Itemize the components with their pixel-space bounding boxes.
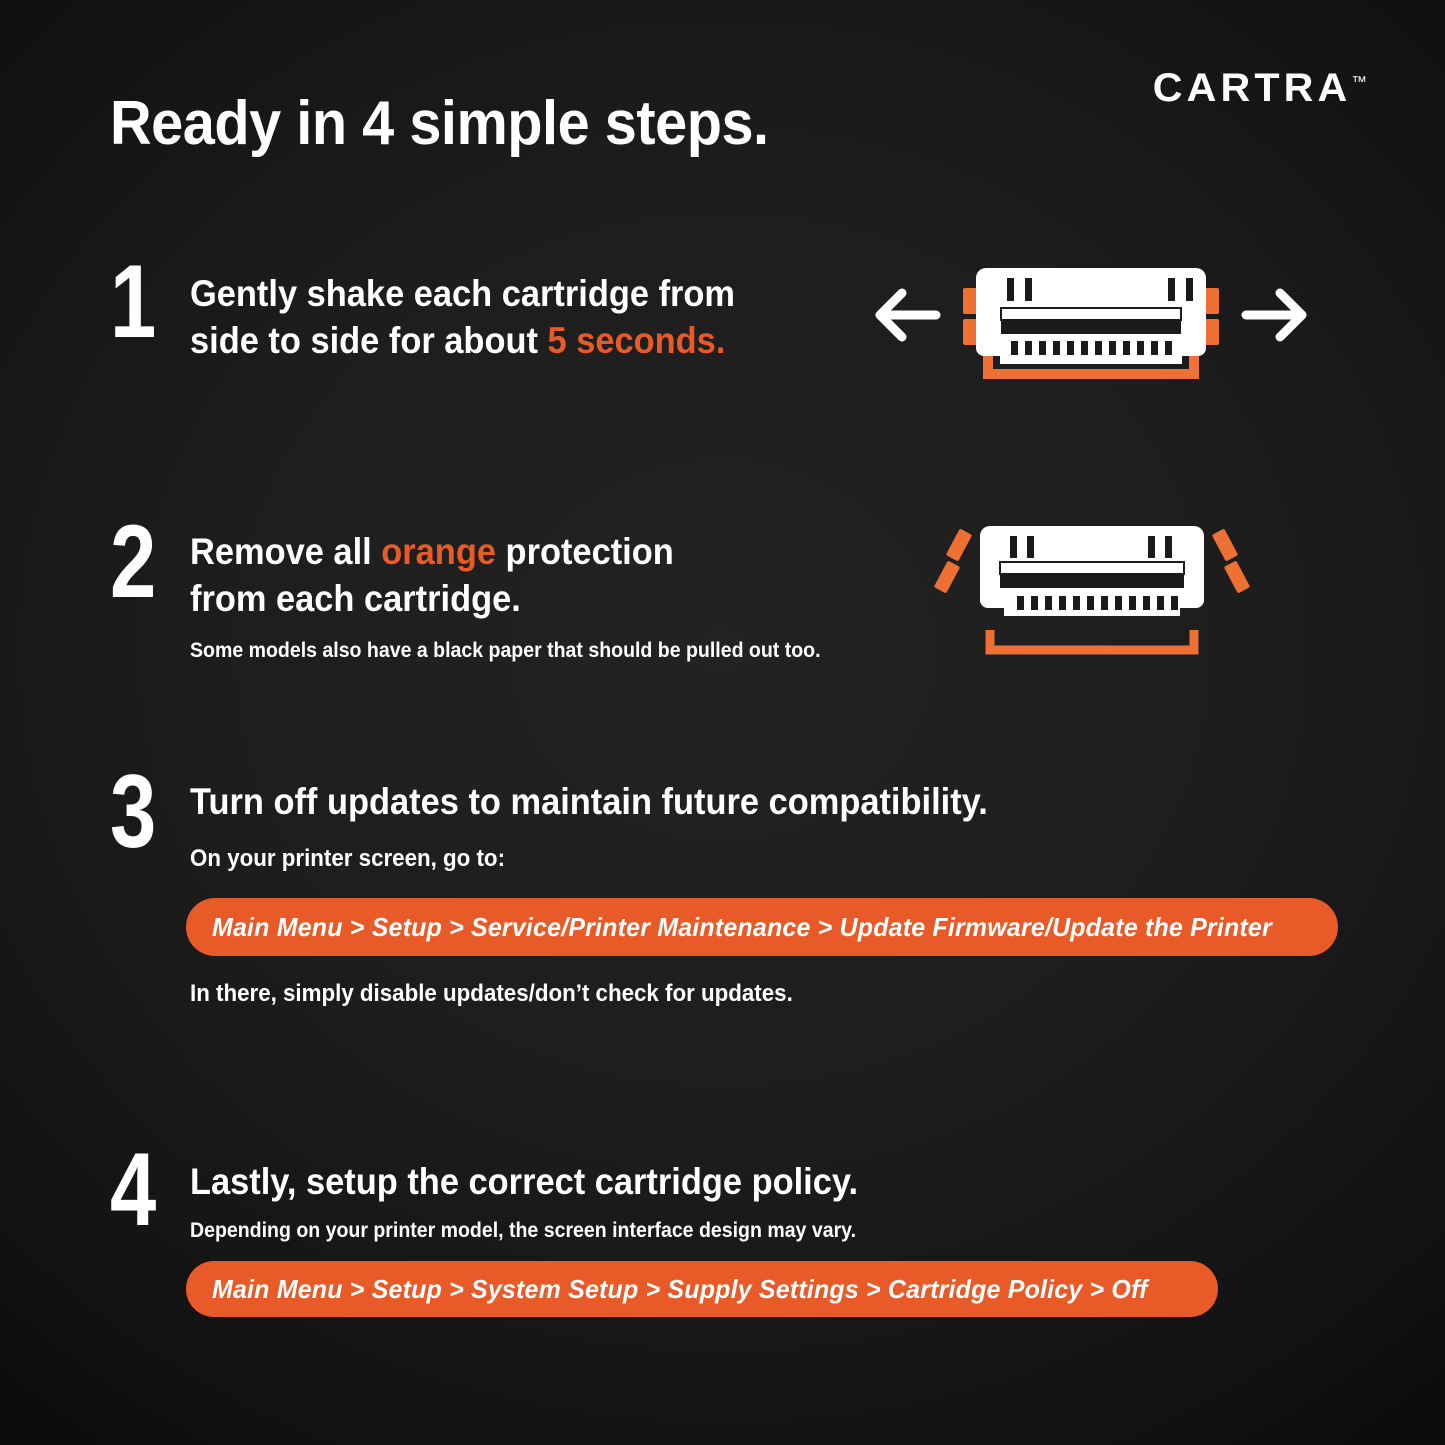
brand-logo-text: CARTRA — [1153, 66, 1352, 110]
step-1-headline-line1: Gently shake each cartridge from — [190, 270, 735, 317]
cartridge-body — [980, 526, 1204, 616]
step-2-number: 2 — [110, 520, 155, 605]
step-2-headline-line1: Remove all orange protection — [190, 528, 821, 575]
infographic-page: Ready in 4 simple steps. CARTRA™ 1 Gentl… — [0, 0, 1445, 1445]
step-3-menu-path-text: Main Menu > Setup > Service/Printer Main… — [212, 912, 1272, 943]
step-2-highlight: orange — [381, 531, 496, 572]
step-3-footnote: In there, simply disable updates/don’t c… — [190, 978, 793, 1009]
arrow-right-icon — [1246, 293, 1302, 337]
cartridge-body — [976, 268, 1206, 364]
step-4-headline: Lastly, setup the correct cartridge poli… — [190, 1158, 858, 1205]
detached-orange-bottom-bracket — [990, 630, 1194, 650]
step-2-headline-line2: from each cartridge. — [190, 575, 821, 622]
step-1-headline-line2-text: side to side for about — [190, 320, 548, 361]
step-4-number: 4 — [110, 1148, 155, 1233]
trademark-symbol: ™ — [1352, 74, 1367, 91]
step-1-highlight: 5 seconds. — [548, 320, 726, 361]
step-4-subtext: Depending on your printer model, the scr… — [190, 1217, 858, 1244]
cartridge-remove-protection-icon — [922, 512, 1262, 667]
page-title: Ready in 4 simple steps. — [110, 88, 769, 159]
step-4-menu-path-pill[interactable]: Main Menu > Setup > System Setup > Suppl… — [186, 1261, 1218, 1317]
step-3-subtext: On your printer screen, go to: — [190, 843, 988, 874]
step-2-subtext: Some models also have a black paper that… — [190, 637, 821, 664]
detached-orange-tab-right — [1212, 528, 1250, 593]
step-4-menu-path-text: Main Menu > Setup > System Setup > Suppl… — [212, 1274, 1148, 1305]
cartridge-shake-icon — [866, 246, 1316, 386]
step-1-number: 1 — [110, 260, 155, 345]
step-3-number: 3 — [110, 770, 155, 855]
detached-orange-tab-left — [934, 528, 972, 593]
arrow-left-icon — [880, 293, 936, 337]
step-1-headline-line2: side to side for about 5 seconds. — [190, 317, 735, 364]
step-3-menu-path-pill[interactable]: Main Menu > Setup > Service/Printer Main… — [186, 898, 1338, 956]
brand-logo: CARTRA™ — [1153, 66, 1367, 111]
step-2-headline-pre: Remove all — [190, 531, 381, 572]
step-3-headline: Turn off updates to maintain future comp… — [190, 778, 988, 825]
step-2-headline-post: protection — [496, 531, 674, 572]
